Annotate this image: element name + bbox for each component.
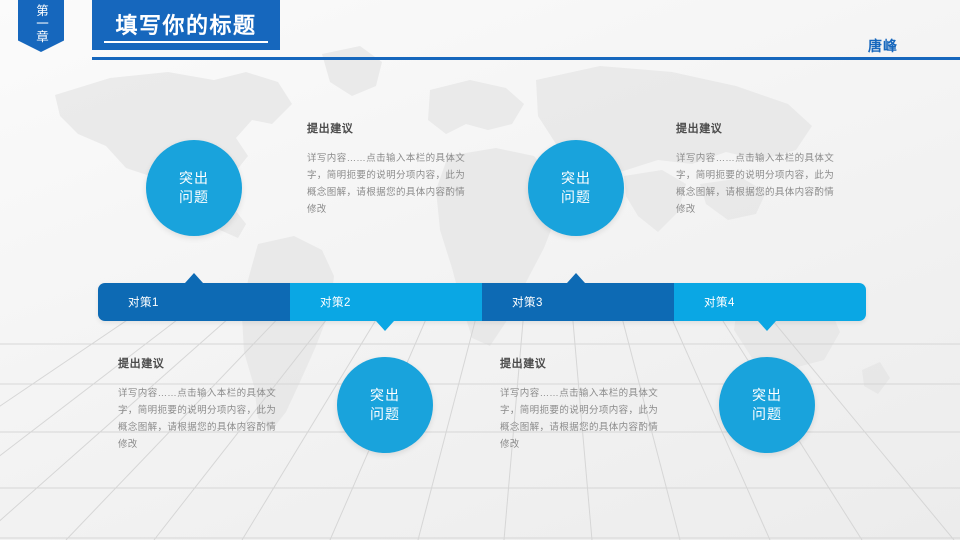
text-block-heading: 提出建议 bbox=[118, 355, 276, 371]
text-block-body: 详写内容……点击输入本栏的具体文字，简明扼要的说明分项内容，此为概念图解，请根据… bbox=[118, 385, 276, 453]
text-block-heading: 提出建议 bbox=[676, 120, 834, 136]
author-label: 唐峰 bbox=[868, 36, 898, 56]
circle-line-1: 突出 bbox=[179, 169, 209, 188]
circle-line-1: 突出 bbox=[561, 169, 591, 188]
header-divider bbox=[92, 57, 960, 60]
circle-line-1: 突出 bbox=[752, 386, 782, 405]
chapter-badge-label: 第一章 bbox=[34, 4, 48, 43]
bar-segment-3[interactable]: 对策3 bbox=[482, 283, 674, 321]
text-block-heading: 提出建议 bbox=[500, 355, 658, 371]
bar-segment-4[interactable]: 对策4 bbox=[674, 283, 866, 321]
circle-line-2: 问题 bbox=[561, 188, 591, 207]
circle-problem-2: 突出 问题 bbox=[528, 140, 624, 236]
text-block-3: 提出建议 详写内容……点击输入本栏的具体文字，简明扼要的说明分项内容，此为概念图… bbox=[118, 355, 276, 453]
bar-segment-2[interactable]: 对策2 bbox=[290, 283, 482, 321]
page-title: 填写你的标题 bbox=[92, 8, 280, 40]
title-underline bbox=[104, 41, 268, 43]
pointer-down-2 bbox=[758, 321, 776, 331]
circle-problem-3: 突出 问题 bbox=[337, 357, 433, 453]
circle-line-1: 突出 bbox=[370, 386, 400, 405]
text-block-body: 详写内容……点击输入本栏的具体文字，简明扼要的说明分项内容，此为概念图解，请根据… bbox=[500, 385, 658, 453]
text-block-2: 提出建议 详写内容……点击输入本栏的具体文字，简明扼要的说明分项内容，此为概念图… bbox=[676, 120, 834, 218]
bar-segment-1[interactable]: 对策1 bbox=[98, 283, 290, 321]
text-block-heading: 提出建议 bbox=[307, 120, 465, 136]
text-block-body: 详写内容……点击输入本栏的具体文字，简明扼要的说明分项内容，此为概念图解，请根据… bbox=[676, 150, 834, 218]
circle-problem-4: 突出 问题 bbox=[719, 357, 815, 453]
text-block-4: 提出建议 详写内容……点击输入本栏的具体文字，简明扼要的说明分项内容，此为概念图… bbox=[500, 355, 658, 453]
pointer-up-2 bbox=[567, 273, 585, 283]
slide-canvas: 第一章 填写你的标题 唐峰 突出 问题 提出建议 详写内容……点击输入本栏的具体… bbox=[0, 0, 960, 540]
pointer-up-1 bbox=[185, 273, 203, 283]
circle-problem-1: 突出 问题 bbox=[146, 140, 242, 236]
strategy-bar: 对策1 对策2 对策3 对策4 bbox=[98, 283, 866, 321]
slide-title-box: 填写你的标题 bbox=[92, 0, 280, 50]
pointer-down-1 bbox=[376, 321, 394, 331]
circle-line-2: 问题 bbox=[179, 188, 209, 207]
chapter-badge: 第一章 bbox=[18, 0, 64, 52]
circle-line-2: 问题 bbox=[752, 405, 782, 424]
text-block-body: 详写内容……点击输入本栏的具体文字，简明扼要的说明分项内容，此为概念图解，请根据… bbox=[307, 150, 465, 218]
text-block-1: 提出建议 详写内容……点击输入本栏的具体文字，简明扼要的说明分项内容，此为概念图… bbox=[307, 120, 465, 218]
circle-line-2: 问题 bbox=[370, 405, 400, 424]
